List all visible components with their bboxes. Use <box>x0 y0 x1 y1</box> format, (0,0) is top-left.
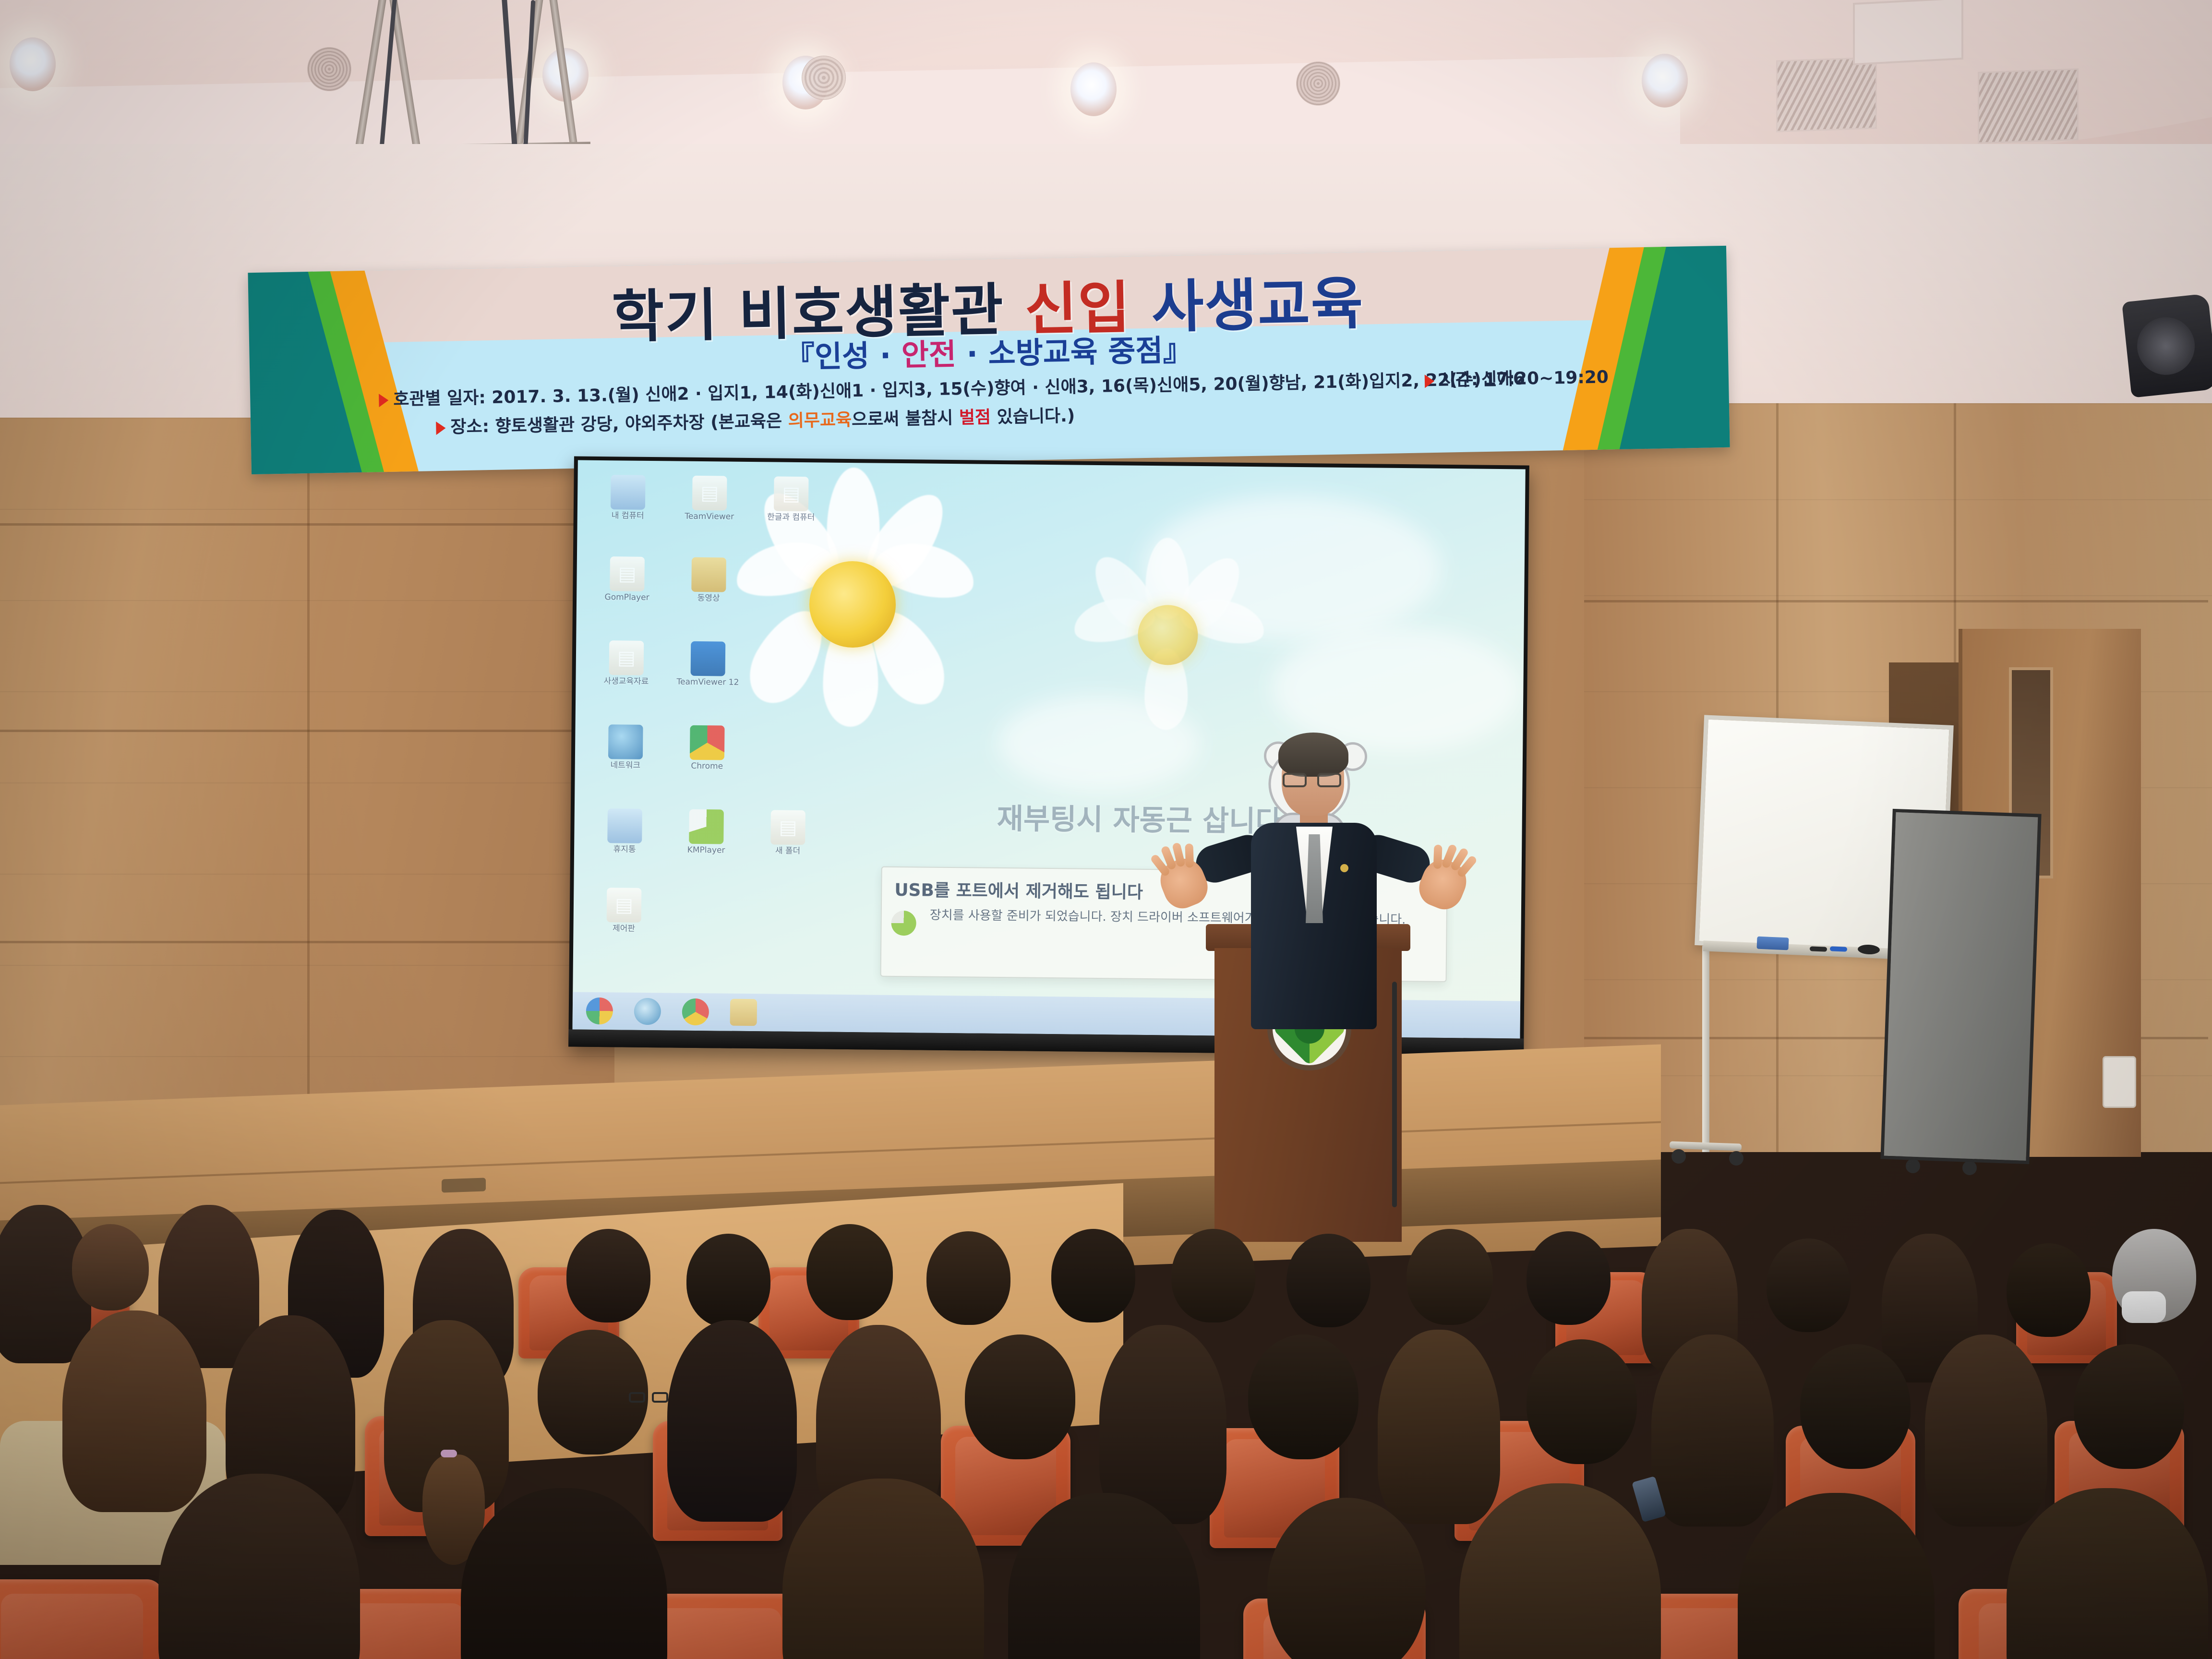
desktop-icon[interactable]: ▤ 새 폴더 <box>752 810 824 856</box>
control-panel-icon: ▤ <box>607 888 642 923</box>
ceiling-speaker-grille <box>1296 61 1340 106</box>
attendee-head <box>1800 1344 1911 1469</box>
desktop-icon-label: 사생교육자료 <box>590 677 662 687</box>
face-mask <box>2122 1291 2166 1323</box>
wood-panel-seam <box>0 730 619 732</box>
attendee-head <box>1378 1330 1500 1524</box>
banner-subtitle-dot-2: · <box>956 336 988 372</box>
teamviewer-icon: ▤ <box>692 476 727 511</box>
ceiling-downlight <box>1642 54 1688 108</box>
desktop-icon-label: TeamViewer 12 <box>672 677 744 687</box>
banner-subtitle-open: 『 <box>784 339 815 375</box>
attendee-head <box>1286 1234 1370 1327</box>
attendee-head <box>72 1224 149 1310</box>
banner-subtitle-close: 』 <box>1163 332 1193 368</box>
desktop-icon[interactable]: ▤ 한글과 컴퓨터 <box>755 476 828 523</box>
banner-subtitle-part-2: 안전 <box>901 337 956 373</box>
desktop-icon-label: Chrome <box>671 761 743 771</box>
internet-explorer-icon[interactable] <box>634 998 661 1025</box>
my-computer-icon <box>611 475 646 510</box>
banner-dates-label: 호관별 일자: <box>393 388 486 409</box>
desktop-icon-label: KMPlayer <box>670 845 742 855</box>
wood-panel-seam <box>0 523 619 526</box>
attendee-head <box>1171 1229 1255 1322</box>
chrome-icon <box>690 725 725 760</box>
desktop-icon-label: 동영상 <box>673 593 745 603</box>
bullet-arrow-icon <box>379 394 389 407</box>
attendee-head <box>2007 1243 2091 1337</box>
ceiling-air-vent <box>1776 57 1877 132</box>
ceiling-downlight <box>10 37 56 91</box>
attendee-head <box>1248 1334 1358 1459</box>
banner-place-mark-1: 의무교육 <box>788 410 852 431</box>
desktop-icon-label: GomPlayer <box>591 593 663 603</box>
desktop-icon[interactable]: ▤ 제어판 <box>588 888 660 934</box>
banner-time-value: 17:20~19:20 <box>1484 367 1609 389</box>
desktop-icon[interactable]: 내 컴퓨터 <box>592 475 664 521</box>
banner-place-mid: 으로써 불참시 <box>852 408 960 430</box>
network-icon <box>608 724 643 759</box>
event-banner: 학기 비호생활관 신입 사생교육 『인성 · 안전 · 소방교육 중점』 호관별… <box>248 246 1730 474</box>
wall-mounted-speaker <box>2122 293 2212 398</box>
desktop-icon-label: 네트워크 <box>589 761 661 771</box>
speaker-lapel-pin <box>1340 864 1348 872</box>
desktop-icon[interactable]: 네트워크 <box>589 724 662 771</box>
eyeglasses-icon <box>629 1392 670 1403</box>
ceiling-air-vent <box>1978 68 2079 144</box>
desktop-icon[interactable]: Chrome <box>671 725 744 771</box>
desktop-icon[interactable]: KMPlayer <box>670 809 743 855</box>
attendee-head <box>566 1229 650 1322</box>
wood-panel-seam <box>0 941 619 943</box>
attendee-head <box>667 1320 797 1522</box>
speaker-hair <box>1278 733 1348 777</box>
desktop-icon-label: 내 컴퓨터 <box>592 511 664 521</box>
banner-subtitle-dot-1: · <box>869 337 902 373</box>
ceiling-downlight <box>1070 62 1117 116</box>
document-icon: ▤ <box>609 640 644 675</box>
auditorium-scene: 학기 비호생활관 신입 사생교육 『인성 · 안전 · 소방교육 중점』 호관별… <box>0 0 2212 1659</box>
attendee-head <box>2074 1344 2184 1469</box>
wallpaper-daisy-small <box>1060 537 1287 745</box>
banner-place-label: 장소: <box>450 417 489 437</box>
attendee-head <box>1527 1339 1637 1464</box>
ceiling-smoke-detector <box>802 56 846 100</box>
banner-subtitle-part-3: 소방교육 중점 <box>988 333 1163 371</box>
desktop-icon[interactable]: 휴지통 <box>589 808 661 855</box>
attendee-head <box>1925 1334 2047 1527</box>
desktop-icon-label: 제어판 <box>588 924 660 934</box>
banner-place-tail: 있습니다.) <box>991 406 1075 427</box>
attendee-hair-tie <box>441 1450 457 1457</box>
banner-stripes-right <box>1549 246 1730 451</box>
banner-time-label: 시간: <box>1439 370 1478 390</box>
desktop-icon[interactable]: ▤ TeamViewer <box>673 475 746 522</box>
hancom-icon: ▤ <box>774 476 809 511</box>
new-folder-icon: ▤ <box>770 810 805 845</box>
banner-place-value: 향토생활관 강당, 야외주차장 (본교육은 <box>495 411 788 436</box>
bullet-arrow-icon <box>1425 374 1435 388</box>
attendee-head <box>806 1224 893 1320</box>
attendee-head <box>1767 1238 1851 1332</box>
attendee-head <box>62 1310 206 1512</box>
whiteboard-marker[interactable] <box>1830 946 1847 951</box>
desktop-icon-label: 휴지통 <box>589 845 661 855</box>
attendee-head <box>1051 1229 1135 1322</box>
desktop-icon[interactable]: TeamViewer 12 <box>672 641 744 687</box>
chrome-taskbar-icon[interactable] <box>682 998 709 1026</box>
notification-status-icon <box>891 911 916 936</box>
daisy-center <box>809 561 896 648</box>
gomplayer-icon: ▤ <box>610 556 645 591</box>
whiteboard-eraser[interactable] <box>1756 937 1789 950</box>
desktop-icon[interactable]: ▤ GomPlayer <box>591 556 663 603</box>
banner-place-mark-2: 벌점 <box>959 408 991 428</box>
kmplayer-icon <box>689 809 724 844</box>
wood-panel-seam <box>307 418 310 1118</box>
banner-time-line: 시간: 17:20~19:20 <box>1425 363 1609 391</box>
ceiling-access-hatch <box>1853 0 1963 65</box>
speaker-glasses-icon <box>1283 773 1343 787</box>
start-button-icon[interactable] <box>586 998 613 1025</box>
attendee-head <box>1407 1229 1493 1325</box>
desktop-icon-label: 새 폴더 <box>752 846 824 856</box>
daisy-center <box>1138 605 1198 665</box>
file-explorer-icon[interactable] <box>730 999 757 1026</box>
desktop-icon[interactable]: 동영상 <box>673 557 745 603</box>
teamviewer12-icon <box>691 641 726 676</box>
banner-stripes-left <box>248 269 429 474</box>
wood-panel-seam <box>1584 600 2208 602</box>
auditorium-chair[interactable] <box>0 1579 163 1659</box>
speaker-person <box>1162 720 1469 1066</box>
banner-subtitle-part-1: 인성 <box>814 338 869 374</box>
attendee-head <box>686 1234 770 1327</box>
desktop-icon-label: TeamViewer <box>673 512 745 522</box>
attendee-head <box>1527 1231 1611 1325</box>
attendee-head <box>1651 1334 1774 1527</box>
whiteboard-marker[interactable] <box>1810 946 1827 951</box>
recycle-bin-icon <box>607 808 642 843</box>
attendee-head <box>965 1334 1075 1459</box>
bullet-arrow-icon <box>436 421 446 435</box>
ceiling-speaker-grille <box>307 47 351 91</box>
desktop-icon-label: 한글과 컴퓨터 <box>755 513 827 523</box>
audience-seating-area <box>0 1085 2212 1659</box>
desktop-icon[interactable]: ▤ 사생교육자료 <box>590 640 662 687</box>
attendee-head <box>926 1231 1010 1325</box>
video-folder-icon <box>691 557 726 592</box>
